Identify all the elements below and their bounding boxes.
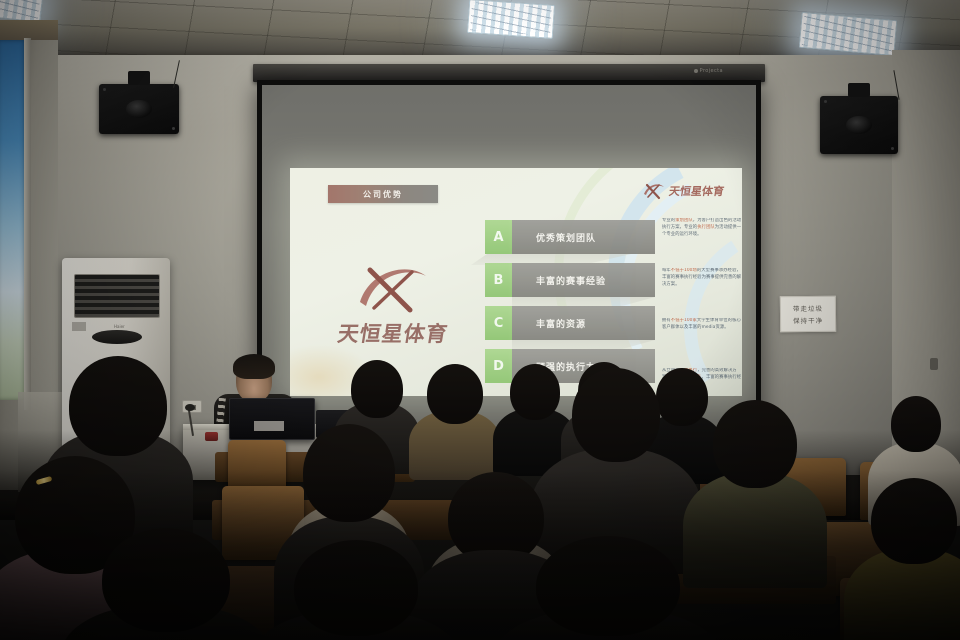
wall-speaker-right <box>820 96 898 154</box>
slide-title-text: 公司优势 <box>363 189 403 200</box>
wall-hook <box>930 358 938 370</box>
speaker-mount-left <box>128 71 150 85</box>
screen-brand-label: Projecta <box>694 68 723 74</box>
slide-watermark-text: 天恒星体育 <box>316 318 471 348</box>
advantage-row-a: A 优秀策划团队 <box>485 220 655 254</box>
person-head <box>871 478 957 564</box>
advantage-desc-c: 拥有不低于100家大学生体育单位的核心客户群体以及丰富的media资源。 <box>662 318 742 361</box>
advantage-desc-b: 每年不低于100场的大型赛事承办经验，丰富的赛事执行经验为赛事提供完善的解决方案… <box>662 268 742 311</box>
brand-swoosh-icon <box>642 181 666 200</box>
ac-display-panel <box>92 330 142 344</box>
person-head <box>510 364 560 420</box>
person-head <box>891 396 941 452</box>
brand-swoosh-large-icon <box>356 260 430 316</box>
wall-poster-frame <box>24 38 31 410</box>
slide-brand-text: 天恒星体育 <box>668 183 725 199</box>
audience-person-9 <box>700 400 810 570</box>
advantage-badge-b: B <box>485 263 512 297</box>
speaker-screw <box>891 147 894 150</box>
notice-line-2: 保持干净 <box>793 315 823 325</box>
advantage-label-a: 优秀策划团队 <box>512 220 655 254</box>
advantage-label-b: 丰富的赛事经验 <box>512 263 655 297</box>
microphone-head <box>185 404 195 411</box>
audience-person-14 <box>276 540 436 640</box>
advantage-row-c: C 丰富的资源 <box>485 306 655 340</box>
ac-brand-label: Haier <box>114 324 125 329</box>
notice-sign: 带走垃圾 保持干净 <box>780 296 836 333</box>
person-head <box>102 528 230 632</box>
audience-person-15 <box>520 536 696 640</box>
speaker-cone-left <box>126 100 152 118</box>
person-head <box>536 536 680 636</box>
ac-vent-grille <box>74 274 160 318</box>
person-head <box>69 356 167 456</box>
person-head <box>303 424 395 522</box>
slide-brand-logo: 天恒星体育 <box>642 181 724 200</box>
advantage-label-c: 丰富的资源 <box>512 306 655 340</box>
person-head <box>713 400 797 488</box>
advantage-badge-a: A <box>485 220 512 254</box>
person-head <box>427 364 483 424</box>
person-head <box>572 368 660 462</box>
advantage-desc-a: 专业的策划团队，为客户打造出色的活动执行方案，专业的执行团队为活动提供一个专业的… <box>662 218 742 261</box>
speaker-cone-right <box>846 116 872 134</box>
person-head <box>294 540 418 636</box>
wall-speaker-left <box>99 84 179 134</box>
person-shoulders <box>683 472 827 588</box>
advantage-row-b: B 丰富的赛事经验 <box>485 263 655 297</box>
ac-logo-badge <box>72 322 86 331</box>
person-head <box>351 360 403 418</box>
audience-person-8 <box>556 368 676 548</box>
audience-person-13 <box>86 528 246 640</box>
advantage-badge-c: C <box>485 306 512 340</box>
monitor-sticker <box>254 421 284 431</box>
wall-poster <box>0 40 26 400</box>
speaker-screw <box>103 88 106 91</box>
notice-line-1: 带走垃圾 <box>793 303 823 313</box>
ceiling-light-panel-2 <box>467 0 555 39</box>
desk-red-object <box>205 432 218 441</box>
audience-person-2 <box>416 358 494 478</box>
speaker-screw <box>824 100 827 103</box>
presenter-hair <box>233 354 275 379</box>
speaker-screw <box>172 127 175 130</box>
audience-person-16 <box>862 478 960 640</box>
slide-watermark-brand: 天恒星体育 <box>318 260 468 348</box>
slide-title-chip: 公司优势 <box>328 185 438 203</box>
lecture-hall-photo: Haier Projecta 公司优势 <box>0 0 960 640</box>
speaker-mount-right <box>848 83 870 97</box>
left-wall-trim <box>0 20 58 40</box>
